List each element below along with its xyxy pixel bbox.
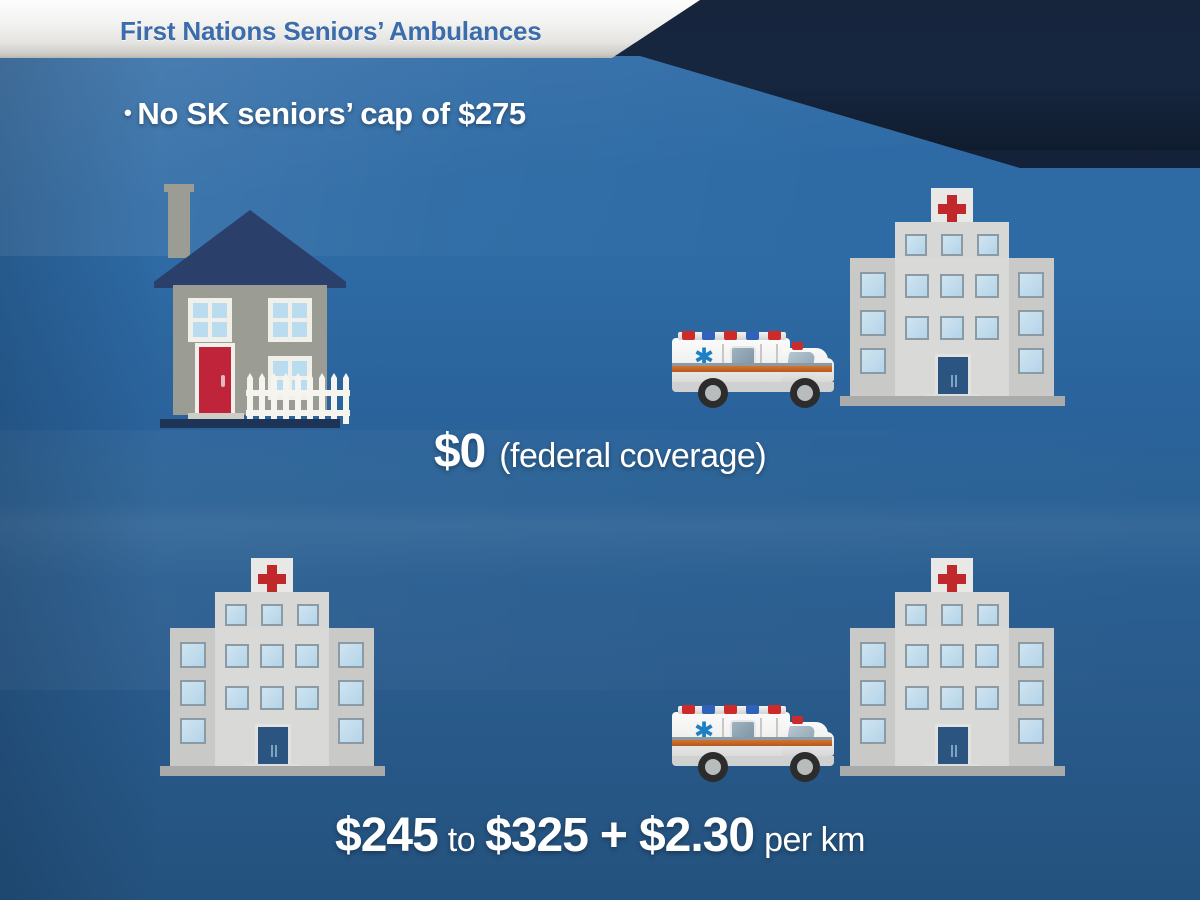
ambulance-stripe (672, 740, 832, 746)
hospital-window (1018, 718, 1044, 744)
hospital-window (1018, 310, 1044, 336)
hospital-window (860, 272, 886, 298)
door-knob (221, 375, 225, 387)
fence-picket (247, 378, 253, 424)
hospital-window (338, 718, 364, 744)
window-upper-left (188, 298, 232, 342)
front-wheel (790, 378, 820, 408)
emergency-lamp-red-icon (682, 705, 695, 714)
hospital-ground (160, 766, 385, 776)
window-upper-right (268, 298, 312, 342)
hospital-window (860, 642, 886, 668)
hospital-window (975, 686, 999, 710)
hospital-window (338, 642, 364, 668)
hospital-illustration (160, 558, 385, 784)
fence-picket (307, 378, 313, 424)
hospital-ground (840, 396, 1065, 406)
hospital-window (860, 348, 886, 374)
hospital-window (297, 604, 319, 626)
hospital-illustration (840, 188, 1065, 414)
hospital-window (225, 644, 249, 668)
hospital-window (905, 604, 927, 626)
emergency-lamp-red-icon (724, 331, 737, 340)
hospital-window (977, 234, 999, 256)
emergency-lamp-blue-icon (702, 331, 715, 340)
emergency-lamp-blue-icon (702, 705, 715, 714)
hospital-window (941, 604, 963, 626)
rate-unit: per km (764, 821, 865, 859)
rate-per-km-amount: $2.30 (639, 809, 754, 862)
hospital-window (977, 604, 999, 626)
emergency-lamp-blue-icon (746, 705, 759, 714)
hospital-window (225, 686, 249, 710)
front-wheel (790, 752, 820, 782)
bullet-icon: • (124, 100, 131, 125)
rear-wheel (698, 752, 728, 782)
rate-plus: + (600, 809, 627, 862)
emergency-lamp-red-icon (768, 331, 781, 340)
red-cross-icon (258, 574, 286, 584)
hospital-window (295, 686, 319, 710)
fence-picket (331, 378, 337, 424)
federal-amount: $0 (434, 425, 485, 478)
ambulance-stripe (672, 366, 832, 372)
hospital-window (975, 644, 999, 668)
hospital-window (180, 680, 206, 706)
hospital-window (1018, 680, 1044, 706)
hospital-window (860, 718, 886, 744)
hospital-window (180, 718, 206, 744)
hospital-window (975, 316, 999, 340)
hospital-window (860, 680, 886, 706)
federal-label: (federal coverage) (499, 437, 766, 475)
hospital-window (905, 274, 929, 298)
page-title: First Nations Seniors’ Ambulances (120, 16, 542, 47)
hospital-window (905, 686, 929, 710)
chimney (168, 188, 190, 258)
emergency-lamp-red-icon (724, 705, 737, 714)
hospital-window (225, 604, 247, 626)
chimney-cap (164, 184, 194, 192)
infographic-slide: First Nations Seniors’ Ambulances •No SK… (0, 0, 1200, 900)
hospital-window (940, 316, 964, 340)
fence-picket (295, 378, 301, 424)
fence-picket (259, 378, 265, 424)
hospital-window (940, 644, 964, 668)
hospital-window (260, 686, 284, 710)
rate-high: $325 (485, 809, 588, 862)
cab-lamp-red-icon (792, 716, 803, 724)
hospital-window (941, 234, 963, 256)
hospital-window (1018, 642, 1044, 668)
home-illustration (150, 180, 350, 430)
red-cross-icon (938, 574, 966, 584)
front-door (195, 343, 235, 415)
fence-picket (343, 378, 349, 424)
cab-lamp-red-icon (792, 342, 803, 350)
hospital-ground (840, 766, 1065, 776)
hospital-window (295, 644, 319, 668)
fence-picket (319, 378, 325, 424)
hospital-window (860, 310, 886, 336)
ambulance-illustration: ✱ (672, 326, 838, 414)
hospital-window (1018, 272, 1044, 298)
red-cross-icon (938, 204, 966, 214)
fence-picket (283, 378, 289, 424)
hospital-window (180, 642, 206, 668)
hospital-window (905, 316, 929, 340)
provincial-rate-caption: $245to$325+$2.30per km (0, 808, 1200, 863)
rear-wheel (698, 378, 728, 408)
bullet-item: •No SK seniors’ cap of $275 (124, 96, 526, 132)
emergency-lamp-blue-icon (746, 331, 759, 340)
rate-low: $245 (335, 809, 438, 862)
hospital-window (905, 234, 927, 256)
hospital-window (260, 644, 284, 668)
hospital-window (940, 686, 964, 710)
hospital-window (940, 274, 964, 298)
hospital-window (1018, 348, 1044, 374)
hospital-window (975, 274, 999, 298)
hospital-window (338, 680, 364, 706)
federal-coverage-caption: $0(federal coverage) (0, 424, 1200, 479)
hospital-window (261, 604, 283, 626)
emergency-lamp-red-icon (768, 705, 781, 714)
emergency-lamp-red-icon (682, 331, 695, 340)
bullet-text: No SK seniors’ cap of $275 (137, 96, 525, 131)
fence-picket (271, 378, 277, 424)
rate-conjunction: to (448, 821, 475, 859)
ambulance-illustration: ✱ (672, 700, 838, 788)
hospital-illustration (840, 558, 1065, 784)
hospital-window (905, 644, 929, 668)
